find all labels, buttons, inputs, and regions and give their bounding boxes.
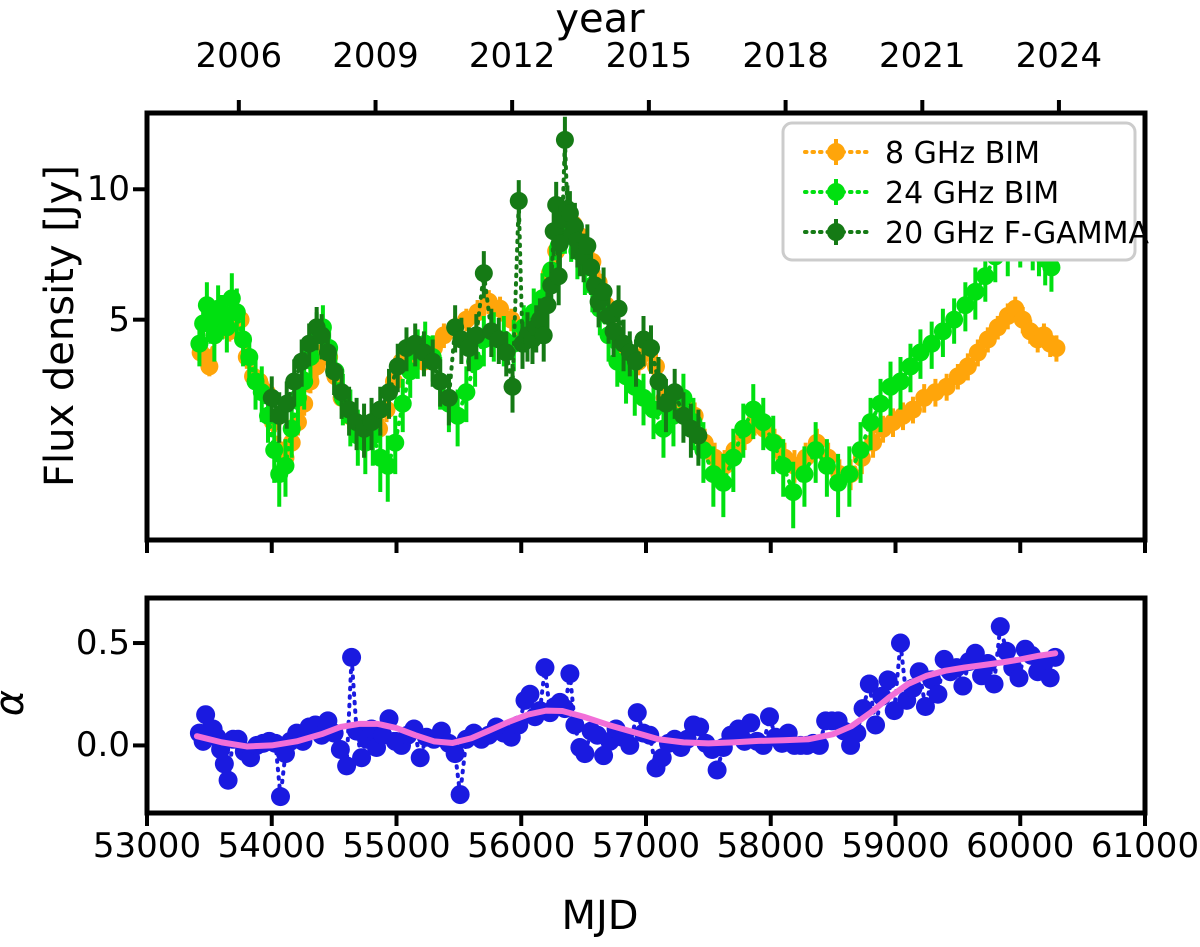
- data-point: [953, 677, 972, 696]
- data-point: [760, 707, 779, 726]
- data-point: [451, 785, 470, 804]
- data-point: [784, 483, 802, 501]
- bottom-tick-label: 58000: [717, 826, 825, 866]
- data-point: [331, 740, 350, 759]
- alpha-ytick-label: 0.5: [35, 623, 130, 663]
- bottom-tick-label: 61000: [1091, 826, 1199, 866]
- data-point: [689, 427, 707, 445]
- data-point: [379, 457, 397, 475]
- data-point: [642, 339, 660, 357]
- data-point: [371, 401, 389, 419]
- data-point: [234, 330, 252, 348]
- bottom-tick-label: 57000: [592, 826, 700, 866]
- data-point: [666, 383, 684, 401]
- top-tick-label: 2006: [196, 36, 283, 76]
- data-point: [319, 343, 337, 361]
- data-point: [754, 413, 772, 431]
- data-point: [690, 718, 709, 737]
- legend-label-0: 8 GHz BIM: [885, 136, 1040, 171]
- bottom-tick-label: 55000: [342, 826, 450, 866]
- data-point: [714, 474, 732, 492]
- data-point: [457, 383, 475, 401]
- data-point: [945, 311, 963, 329]
- data-point: [560, 664, 579, 683]
- data-point: [1010, 668, 1029, 687]
- data-point: [966, 283, 984, 301]
- data-point: [333, 383, 351, 401]
- bottom-tick-label: 56000: [467, 826, 575, 866]
- data-point: [724, 449, 742, 467]
- data-point: [520, 685, 539, 704]
- legend-marker: [827, 223, 845, 241]
- series-20-ghz-f-gamma: [263, 117, 708, 466]
- alpha-series-group: [190, 617, 1065, 806]
- top-tick-label: 2024: [1016, 36, 1103, 76]
- data-point: [550, 267, 568, 285]
- data-point: [386, 434, 404, 452]
- data-point: [218, 318, 236, 336]
- data-point: [276, 457, 294, 475]
- data-point: [872, 395, 890, 413]
- data-point: [985, 675, 1004, 694]
- data-point: [219, 771, 238, 790]
- data-point: [578, 237, 596, 255]
- data-point: [610, 300, 628, 318]
- data-point: [431, 372, 449, 390]
- data-point: [734, 420, 752, 438]
- data-point: [628, 703, 647, 722]
- data-point: [928, 685, 947, 704]
- data-point: [285, 372, 303, 390]
- data-point: [424, 353, 442, 371]
- bottom-tick-label: 54000: [218, 826, 326, 866]
- top-tick-label: 2009: [332, 36, 419, 76]
- alpha-ytick-label: 0.0: [35, 725, 130, 765]
- data-point: [538, 296, 556, 314]
- data-point: [394, 395, 412, 413]
- bottom-tick-label: 53000: [93, 826, 201, 866]
- top-tick-label: 2015: [606, 36, 693, 76]
- data-point: [708, 761, 727, 780]
- data-point: [976, 267, 994, 285]
- data-point: [293, 353, 311, 371]
- data-point: [380, 383, 398, 401]
- flux-ytick-label: 10: [60, 169, 130, 209]
- data-point: [649, 372, 667, 390]
- data-point: [595, 283, 613, 301]
- flux-ytick-label: 5: [60, 300, 130, 340]
- data-point: [627, 353, 645, 371]
- data-point: [389, 357, 407, 375]
- data-point: [497, 343, 515, 361]
- data-point: [866, 715, 885, 734]
- bottom-tick-label: 59000: [841, 826, 949, 866]
- data-point: [774, 457, 792, 475]
- data-point: [510, 192, 528, 210]
- legend-label-2: 20 GHz F-GAMMA: [885, 216, 1149, 251]
- data-point: [575, 744, 594, 763]
- data-point: [891, 634, 910, 653]
- data-point: [741, 713, 760, 732]
- legend-marker: [827, 143, 845, 161]
- bottom-tick-label: 60000: [966, 826, 1074, 866]
- figure-root: year MJD Flux density [Jy] α 20062009201…: [0, 0, 1200, 947]
- data-point: [278, 395, 296, 413]
- data-point: [228, 303, 246, 321]
- top-tick-label: 2018: [742, 36, 829, 76]
- data-point: [265, 441, 283, 459]
- data-point: [991, 617, 1010, 636]
- data-point: [862, 413, 880, 431]
- data-point: [240, 348, 258, 366]
- data-point: [475, 264, 493, 282]
- data-point: [1041, 668, 1060, 687]
- data-point: [440, 389, 458, 407]
- data-point: [556, 131, 574, 149]
- legend-label-1: 24 GHz BIM: [885, 176, 1059, 211]
- data-point: [764, 434, 782, 452]
- data-point: [840, 465, 858, 483]
- data-point: [891, 372, 909, 390]
- legend-marker: [827, 183, 845, 201]
- data-point: [325, 362, 343, 380]
- series-alpha-points: [190, 617, 1065, 806]
- data-point: [342, 648, 361, 667]
- data-point: [215, 754, 234, 773]
- data-point: [535, 658, 554, 677]
- data-point: [271, 787, 290, 806]
- data-point: [818, 457, 836, 475]
- data-point: [411, 748, 430, 767]
- data-point: [795, 465, 813, 483]
- data-point: [1047, 339, 1065, 357]
- data-point: [449, 407, 467, 425]
- data-point: [807, 441, 825, 459]
- data-point: [582, 258, 600, 276]
- data-point: [504, 378, 522, 396]
- data-point: [535, 326, 553, 344]
- top-tick-label: 2012: [469, 36, 556, 76]
- top-tick-label: 2021: [879, 36, 966, 76]
- data-point: [313, 326, 331, 344]
- data-point: [879, 670, 898, 689]
- data-point: [852, 441, 870, 459]
